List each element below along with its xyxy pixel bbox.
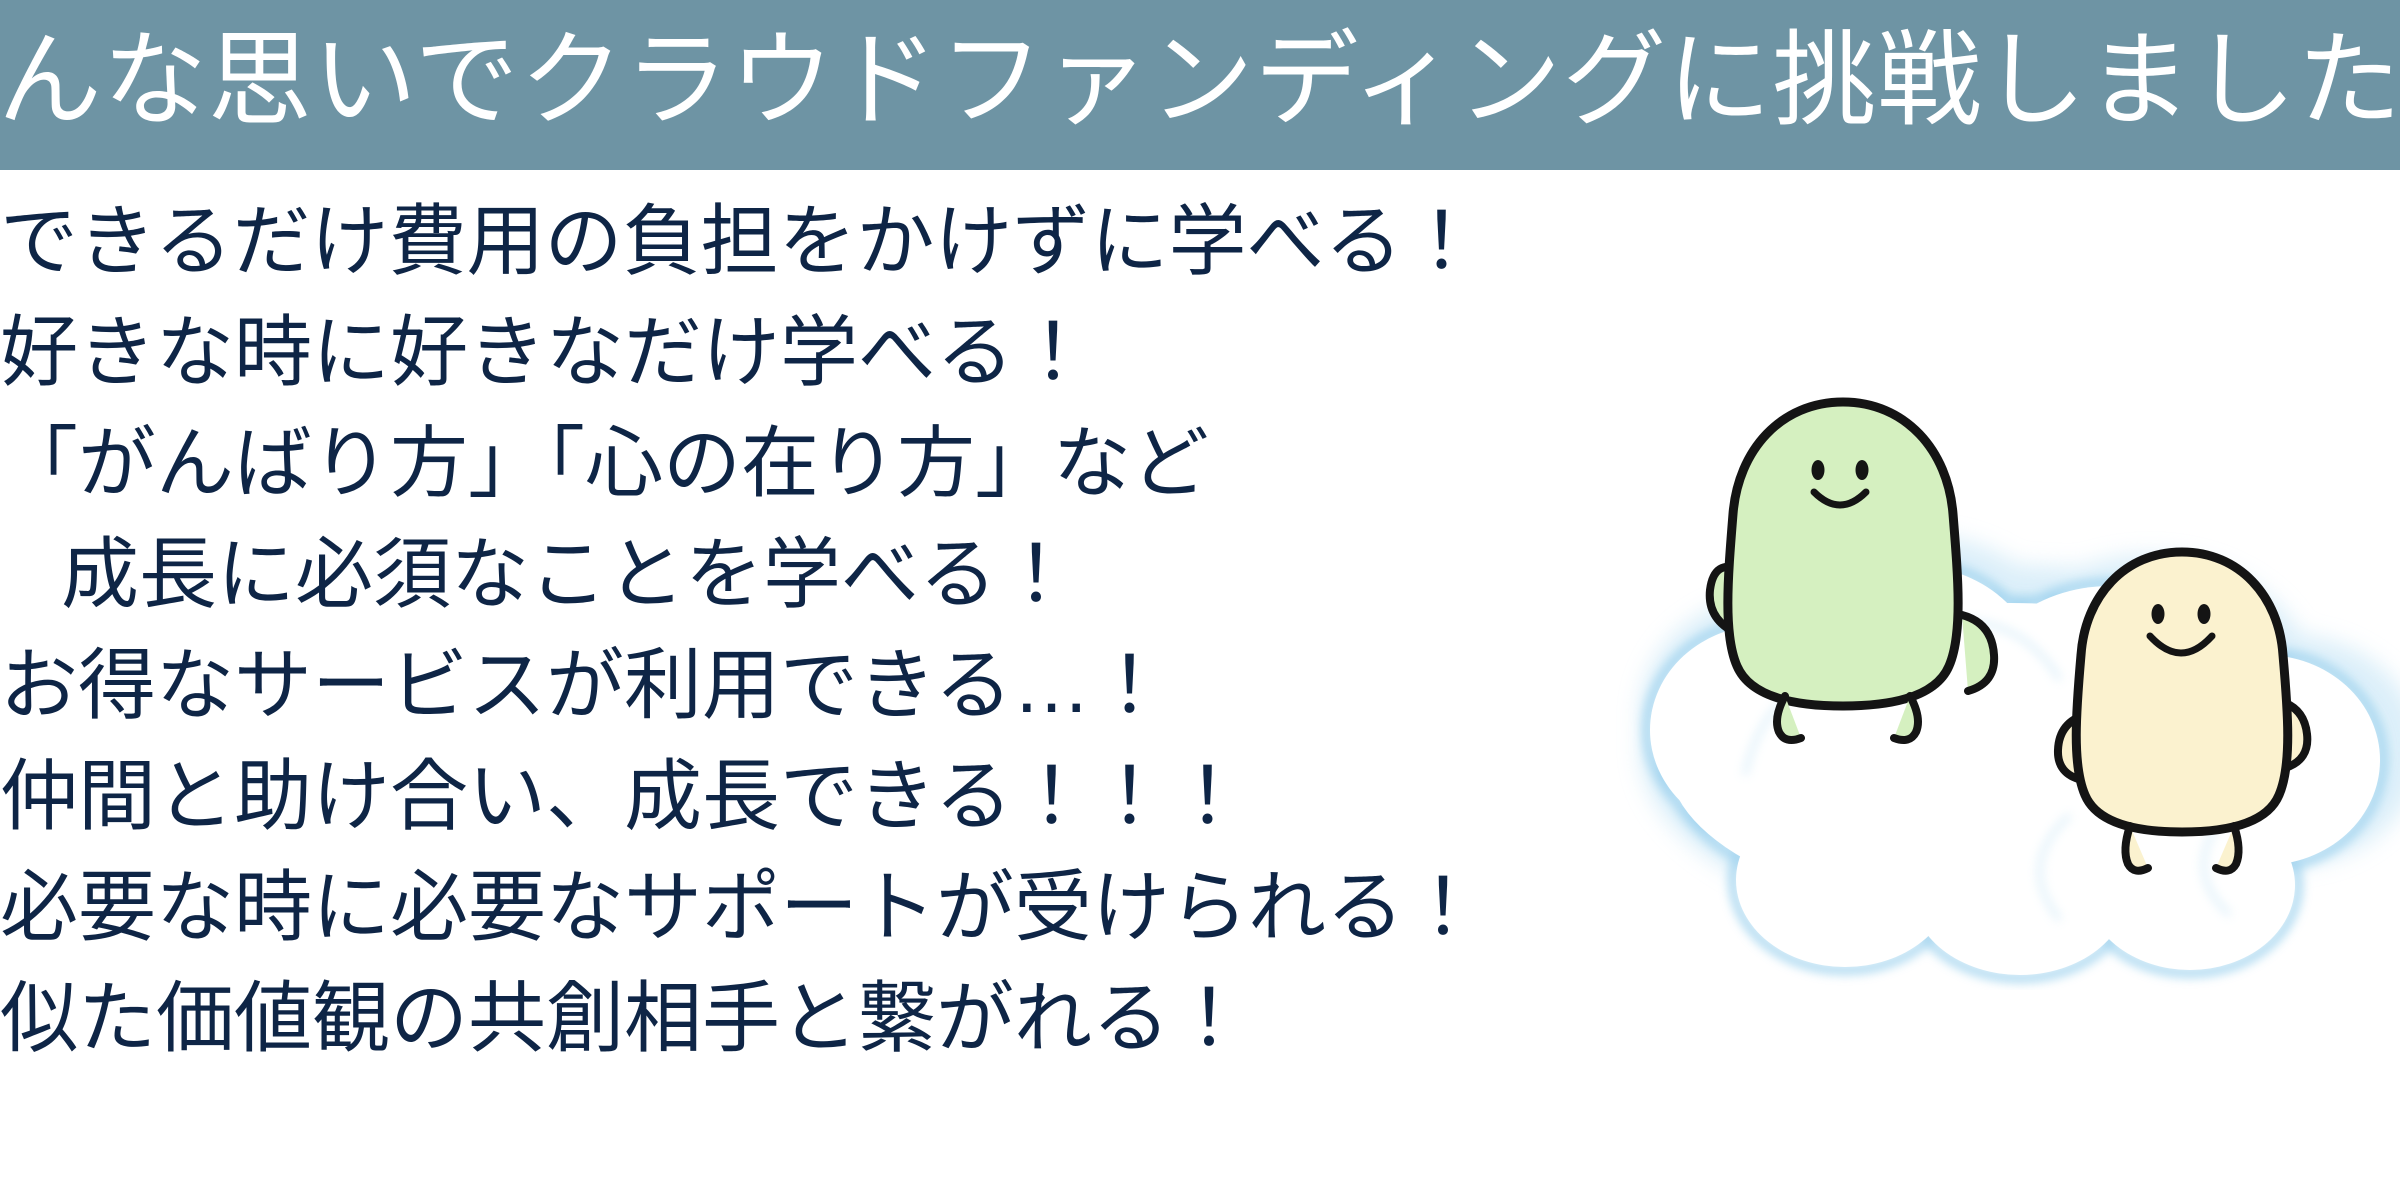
- benefit-line: 似た価値観の共創相手と繋がれる！: [0, 963, 1075, 1074]
- cream-left-eye: [2152, 604, 2165, 624]
- benefit-line: 仲間と助け合い、成長できる！！！: [0, 741, 1075, 852]
- header-band: こんな思いでクラウドファンディングに挑戦しました！: [0, 0, 2400, 170]
- green-right-eye: [1856, 460, 1869, 480]
- benefit-line: 成長に必須なことを学べる！: [0, 519, 1075, 630]
- benefit-line: 「がんばり方」「心の在り方」など: [0, 408, 1075, 519]
- benefit-line: できるだけ費用の負担をかけずに学べる！: [0, 186, 1075, 297]
- benefit-line: 好きな時に好きなだけ学べる！: [0, 297, 1075, 408]
- benefit-line: 必要な時に必要なサポートが受けられる！: [0, 852, 1075, 963]
- page-title: こんな思いでクラウドファンディングに挑戦しました！: [0, 29, 2400, 133]
- cloud-characters-illustration: [1590, 360, 2400, 990]
- benefit-line: お得なサービスが利用できる…！: [0, 630, 1075, 741]
- green-left-eye: [1812, 460, 1825, 480]
- cream-right-eye: [2198, 604, 2211, 624]
- benefit-message-list: できるだけ費用の負担をかけずに学べる！ 好きな時に好きなだけ学べる！ 「がんばり…: [0, 186, 1075, 1074]
